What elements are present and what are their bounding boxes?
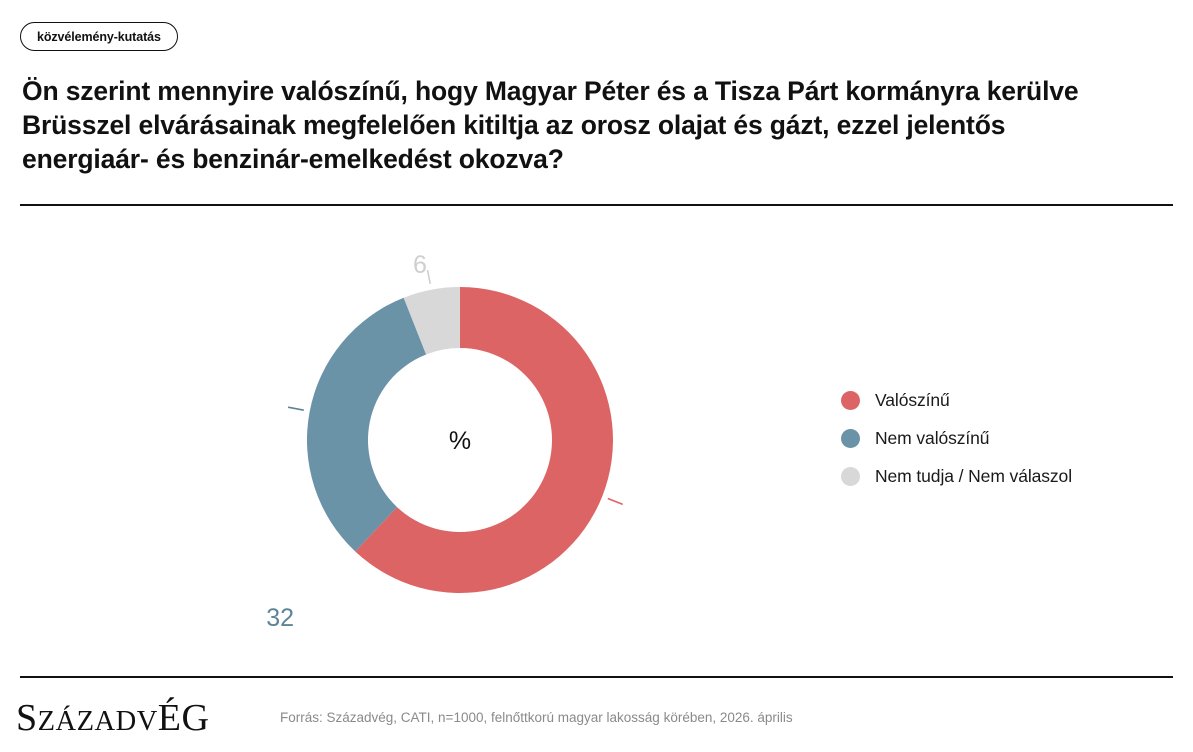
leader-line-32: [288, 407, 304, 410]
brand-logo-rest-2: G: [182, 697, 210, 739]
category-badge: közvélemény-kutatás: [20, 22, 178, 51]
page-title-line-1: Ön szerint mennyire valószínű, hogy Magy…: [22, 74, 1177, 108]
data-label-nem-tudja: 6: [413, 251, 427, 279]
page-title-line-3: energiaár- és benzinár-emelkedést okozva…: [22, 142, 1177, 176]
page-title: Ön szerint mennyire valószínű, hogy Magy…: [22, 74, 1177, 176]
brand-logo: SZÁZADVÉG: [16, 697, 209, 743]
donut-slice-nem-valoszinu[interactable]: [307, 298, 426, 552]
donut-center-label: %: [449, 427, 471, 455]
chart-legend: Valószínű Nem valószínű Nem tudja / Nem …: [841, 390, 1072, 486]
page-title-line-2: Brüsszel elvárásainak megfelelően kitilt…: [22, 108, 1177, 142]
data-label-nem-valoszinu: 32: [266, 604, 294, 632]
divider-bottom: [20, 676, 1173, 678]
leader-line-6: [428, 270, 431, 284]
brand-logo-cap-e: É: [158, 697, 182, 739]
donut-chart-svg: 62 32 6 %: [0, 220, 820, 670]
brand-logo-cap-s: S: [16, 697, 38, 739]
source-note: Forrás: Századvég, CATI, n=1000, felnőtt…: [280, 710, 793, 725]
legend-item-valoszinu[interactable]: Valószínű: [841, 390, 1072, 410]
brand-logo-rest-1: ZÁZADV: [38, 706, 158, 737]
legend-label-nem-valoszinu: Nem valószínű: [875, 428, 989, 449]
legend-swatch-icon-nem-valoszinu: [841, 429, 860, 448]
legend-label-valoszinu: Valószínű: [875, 390, 950, 411]
leader-line-62: [608, 499, 623, 505]
donut-chart: 62 32 6 %: [0, 220, 820, 670]
chart-page: közvélemény-kutatás Ön szerint mennyire …: [0, 0, 1193, 752]
legend-swatch-icon-nem-tudja: [841, 467, 860, 486]
legend-item-nem-valoszinu[interactable]: Nem valószínű: [841, 428, 1072, 448]
category-badge-label: közvélemény-kutatás: [37, 30, 161, 44]
divider-top: [20, 204, 1173, 206]
legend-item-nem-tudja[interactable]: Nem tudja / Nem válaszol: [841, 466, 1072, 486]
legend-label-nem-tudja: Nem tudja / Nem válaszol: [875, 466, 1072, 487]
legend-swatch-icon-valoszinu: [841, 391, 860, 410]
